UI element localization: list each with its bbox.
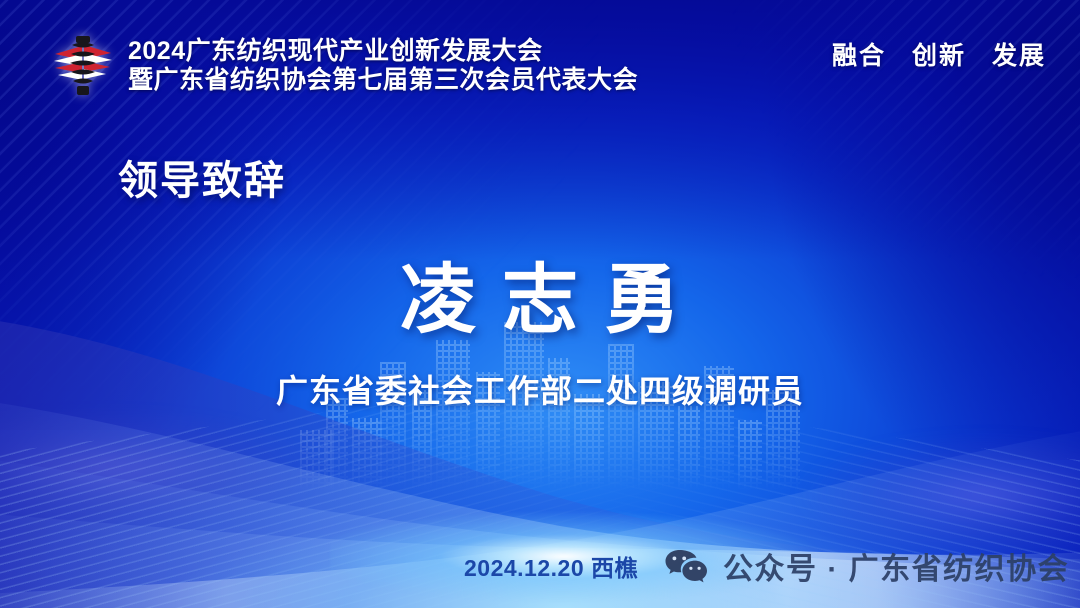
header-title-line1: 2024广东纺织现代产业创新发展大会 <box>128 37 638 67</box>
slide-header: 2024广东纺织现代产业创新发展大会 暨广东省纺织协会第七届第三次会员代表大会 <box>52 30 638 102</box>
textile-spool-wings-logo-icon <box>52 30 114 102</box>
header-title-block: 2024广东纺织现代产业创新发展大会 暨广东省纺织协会第七届第三次会员代表大会 <box>128 37 638 96</box>
slogan-item-2: 创新 <box>912 36 966 72</box>
wechat-icon <box>664 548 710 584</box>
wechat-account-label: 公众号 · 广东省纺织协会 <box>723 544 1069 588</box>
event-date-location: 2024.12.20 西樵 <box>464 549 638 583</box>
section-label: 领导致辞 <box>118 148 286 206</box>
presentation-slide: 2024广东纺织现代产业创新发展大会 暨广东省纺织协会第七届第三次会员代表大会 … <box>0 0 1080 608</box>
speaker-title: 广东省委社会工作部二处四级调研员 <box>0 366 1080 412</box>
slogan-item-3: 发展 <box>992 36 1046 72</box>
header-title-line2: 暨广东省纺织协会第七届第三次会员代表大会 <box>128 66 638 96</box>
slogan-item-1: 融合 <box>832 36 886 72</box>
wechat-account-bar: 公众号 · 广东省纺织协会 <box>664 544 1069 588</box>
slogan-group: 融合 创新 发展 <box>832 36 1046 72</box>
speaker-name: 凌志勇 <box>0 238 1080 348</box>
